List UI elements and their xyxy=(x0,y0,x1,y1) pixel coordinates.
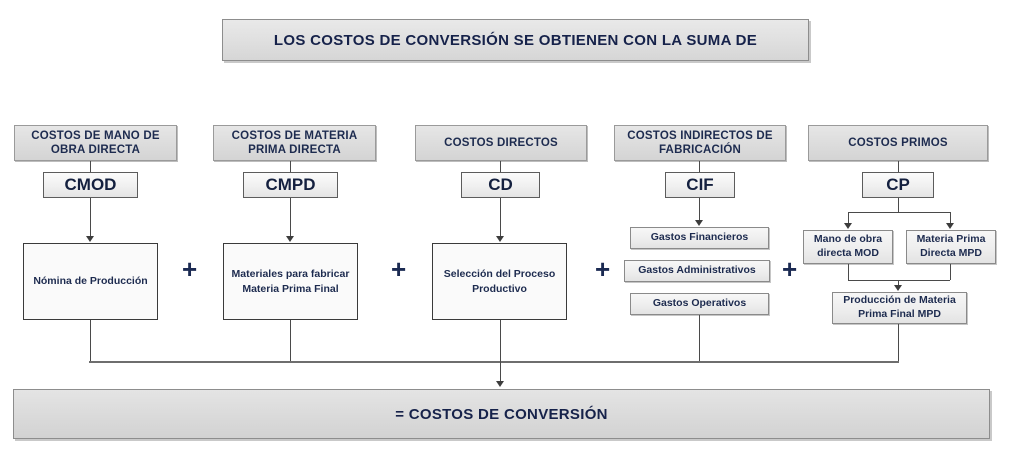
cp-merge-box: Producción de Materia Prima Final MPD xyxy=(832,292,967,324)
cp-branch-box-mod: Mano de obra directa MOD xyxy=(803,230,893,264)
arrowhead-result xyxy=(496,381,504,387)
header-label-cd: COSTOS DIRECTOS xyxy=(444,136,558,150)
header-box-cmod: COSTOS DE MANO DE OBRA DIRECTA xyxy=(14,125,177,161)
acronym-label-cmpd: CMPD xyxy=(265,175,315,195)
acronym-box-cmod: CMOD xyxy=(43,172,138,198)
header-box-cp: COSTOS PRIMOS xyxy=(808,125,988,161)
header-label-cif: COSTOS INDIRECTOS DE FABRICACIÓN xyxy=(615,129,785,158)
acronym-box-cd: CD xyxy=(461,172,540,198)
acronym-label-cif: CIF xyxy=(686,175,713,195)
connector-cp-merge-right xyxy=(950,264,951,280)
content-box-cmod: Nómina de Producción xyxy=(23,243,158,320)
cif-item-label-2: Gastos Administrativos xyxy=(638,264,755,278)
connector-cmpd-acronym-to-body xyxy=(290,198,291,238)
connector-cmod-body-to-bus xyxy=(90,320,91,362)
connector-cp-to-bus xyxy=(898,324,899,362)
plus-glyph-1: + xyxy=(182,254,197,284)
connector-cif-to-bus xyxy=(699,315,700,362)
result-text: = COSTOS DE CONVERSIÓN xyxy=(395,406,608,423)
content-label-cd: Selección del Proceso Productivo xyxy=(437,267,562,295)
header-box-cd: COSTOS DIRECTOS xyxy=(415,125,587,161)
arrowhead-cp-merge xyxy=(894,285,902,291)
diagram-canvas: LOS COSTOS DE CONVERSIÓN SE OBTIENEN CON… xyxy=(0,0,1009,459)
plus-operator-3: + xyxy=(595,256,610,282)
cif-item-label-1: Gastos Financieros xyxy=(651,231,748,245)
connector-cmpd-body-to-bus xyxy=(290,320,291,362)
header-box-cmpd: COSTOS DE MATERIA PRIMA DIRECTA xyxy=(213,125,376,161)
connector-cp-split-bar xyxy=(848,212,950,213)
content-box-cmpd: Materiales para fabricar Materia Prima F… xyxy=(223,243,358,320)
connector-cp-merge-bar xyxy=(848,280,950,281)
acronym-label-cp: CP xyxy=(886,175,910,195)
cif-item-operativos: Gastos Operativos xyxy=(630,293,769,315)
content-label-cmod: Nómina de Producción xyxy=(33,274,147,288)
header-label-cmpd: COSTOS DE MATERIA PRIMA DIRECTA xyxy=(214,129,375,158)
cp-branch-label-mpd: Materia Prima Directa MPD xyxy=(910,233,992,260)
content-box-cd: Selección del Proceso Productivo xyxy=(432,243,567,320)
arrowhead-cp-branch-right xyxy=(946,223,954,229)
connector-cp-header-to-acronym xyxy=(898,161,899,172)
connector-cif-acronym-to-item1 xyxy=(699,198,700,222)
header-label-cmod: COSTOS DE MANO DE OBRA DIRECTA xyxy=(15,129,176,158)
cif-item-administrativos: Gastos Administrativos xyxy=(624,260,770,282)
plus-operator-2: + xyxy=(391,256,406,282)
cp-branch-box-mpd: Materia Prima Directa MPD xyxy=(906,230,996,264)
plus-operator-1: + xyxy=(182,256,197,282)
connector-cif-header-to-acronym xyxy=(699,161,700,172)
summation-bus-line xyxy=(89,361,899,363)
arrowhead-cmod-body xyxy=(86,236,94,242)
cif-item-financieros: Gastos Financieros xyxy=(630,227,769,249)
cp-branch-label-mod: Mano de obra directa MOD xyxy=(807,233,889,260)
acronym-box-cp: CP xyxy=(862,172,934,198)
arrowhead-cif-item1 xyxy=(695,220,703,226)
connector-cp-merge-left xyxy=(848,264,849,280)
acronym-label-cmod: CMOD xyxy=(65,175,117,195)
result-bar: = COSTOS DE CONVERSIÓN xyxy=(13,389,990,439)
connector-cmod-header-to-acronym xyxy=(90,161,91,172)
connector-cd-header-to-acronym xyxy=(500,161,501,172)
connector-cp-split-stem xyxy=(898,198,899,212)
header-box-cif: COSTOS INDIRECTOS DE FABRICACIÓN xyxy=(614,125,786,161)
connector-cd-body-to-bus xyxy=(500,320,501,362)
acronym-label-cd: CD xyxy=(488,175,513,195)
cp-merge-label: Producción de Materia Prima Final MPD xyxy=(836,294,963,321)
connector-cd-acronym-to-body xyxy=(500,198,501,238)
connector-cmpd-header-to-acronym xyxy=(290,161,291,172)
cif-item-label-3: Gastos Operativos xyxy=(653,297,746,311)
header-label-cp: COSTOS PRIMOS xyxy=(848,136,948,150)
plus-operator-4: + xyxy=(782,256,797,282)
arrowhead-cmpd-body xyxy=(286,236,294,242)
arrowhead-cd-body xyxy=(496,236,504,242)
plus-glyph-2: + xyxy=(391,254,406,284)
arrowhead-cp-branch-left xyxy=(844,223,852,229)
acronym-box-cif: CIF xyxy=(665,172,735,198)
plus-glyph-4: + xyxy=(782,254,797,284)
content-label-cmpd: Materiales para fabricar Materia Prima F… xyxy=(228,267,353,295)
acronym-box-cmpd: CMPD xyxy=(243,172,338,198)
connector-cmod-acronym-to-body xyxy=(90,198,91,238)
diagram-title-bar: LOS COSTOS DE CONVERSIÓN SE OBTIENEN CON… xyxy=(222,19,809,61)
plus-glyph-3: + xyxy=(595,254,610,284)
diagram-title-text: LOS COSTOS DE CONVERSIÓN SE OBTIENEN CON… xyxy=(274,32,757,49)
